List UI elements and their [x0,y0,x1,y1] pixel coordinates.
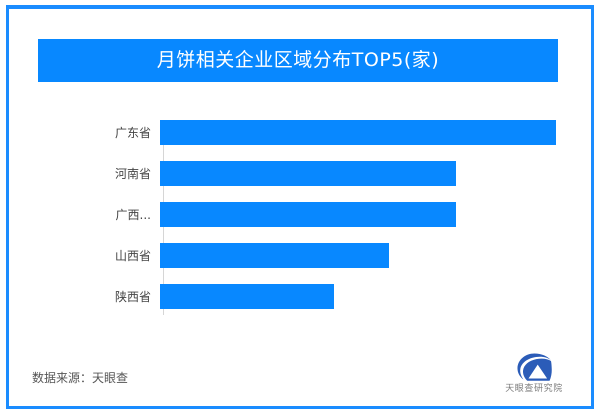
bar-track [158,284,558,309]
bar-category-label: 广东省 [38,127,158,139]
bar [160,243,389,268]
bar [160,120,556,145]
bar-category-label: 广西... [38,209,158,221]
bar-track [158,161,558,186]
bar [160,161,456,186]
bar-track [158,202,558,227]
bar-category-label: 河南省 [38,168,158,180]
bar-row: 河南省 [38,161,558,186]
brand-logo: 天眼查研究院 [494,352,574,402]
bar [160,284,334,309]
chart-page: 月饼相关企业区域分布TOP5(家) 广东省河南省广西...山西省陕西省 数据来源… [0,0,600,416]
bar-row: 广西... [38,202,558,227]
bar-track [158,243,558,268]
frame-border-left [6,5,9,409]
bar [160,202,456,227]
bar-category-label: 山西省 [38,250,158,262]
bar-track [158,120,558,145]
page-title: 月饼相关企业区域分布TOP5(家) [157,51,439,70]
bar-rows: 广东省河南省广西...山西省陕西省 [38,110,558,325]
bar-chart: 广东省河南省广西...山西省陕西省 [38,110,558,325]
brand-logo-text: 天眼查研究院 [505,385,563,394]
frame-border-bottom [6,406,594,409]
chart-title-banner: 月饼相关企业区域分布TOP5(家) [38,39,558,82]
bar-category-label: 陕西省 [38,291,158,303]
frame-border-right [591,5,594,409]
bar-row: 广东省 [38,120,558,145]
eagle-eye-logo-icon [515,352,553,383]
bar-row: 陕西省 [38,284,558,309]
frame-border-top [6,5,594,9]
data-source-label: 数据来源：天眼查 [32,372,128,384]
bar-row: 山西省 [38,243,558,268]
